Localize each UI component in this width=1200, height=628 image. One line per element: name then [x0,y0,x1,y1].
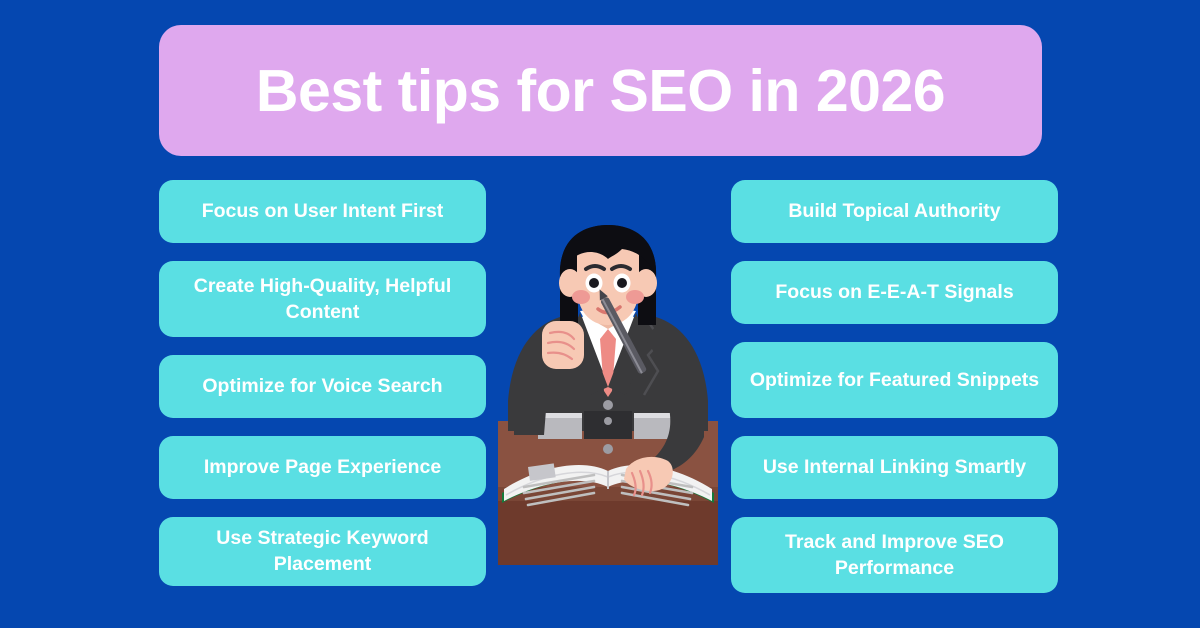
cheek-right-graphic [626,290,644,304]
tip-label: Use Internal Linking Smartly [763,454,1026,480]
tip-pill-focus-eeat-signals[interactable]: Focus on E-E-A-T Signals [731,261,1058,324]
tip-label: Optimize for Featured Snippets [750,367,1039,393]
seo-tips-infographic: Best tips for SEO in 2026 Focus on User … [0,0,1200,628]
tip-pill-focus-user-intent[interactable]: Focus on User Intent First [159,180,486,243]
tip-label: Optimize for Voice Search [202,373,442,399]
left-tips-column: Focus on User Intent First Create High-Q… [159,180,486,586]
tip-pill-build-topical-authority[interactable]: Build Topical Authority [731,180,1058,243]
tip-label: Improve Page Experience [204,454,441,480]
title-banner: Best tips for SEO in 2026 [159,25,1042,156]
tip-label: Track and Improve SEO Performance [745,529,1044,582]
tip-pill-internal-linking[interactable]: Use Internal Linking Smartly [731,436,1058,499]
tip-label: Focus on E-E-A-T Signals [775,279,1013,305]
tip-label: Create High-Quality, Helpful Content [173,273,472,326]
tip-label: Focus on User Intent First [202,198,444,224]
tip-label: Use Strategic Keyword Placement [173,525,472,578]
cheek-left-graphic [572,290,590,304]
tip-pill-strategic-keyword-placement[interactable]: Use Strategic Keyword Placement [159,517,486,586]
tip-pill-improve-page-experience[interactable]: Improve Page Experience [159,436,486,499]
tip-pill-optimize-voice-search[interactable]: Optimize for Voice Search [159,355,486,418]
page-title: Best tips for SEO in 2026 [256,57,945,125]
tip-label: Build Topical Authority [788,198,1000,224]
tip-pill-track-improve-seo-performance[interactable]: Track and Improve SEO Performance [731,517,1058,593]
tip-pill-create-high-quality-content[interactable]: Create High-Quality, Helpful Content [159,261,486,337]
desk-papers-graphic [538,411,678,439]
tip-pill-optimize-featured-snippets[interactable]: Optimize for Featured Snippets [731,342,1058,418]
right-tips-column: Build Topical Authority Focus on E-E-A-T… [731,180,1058,593]
businesswoman-illustration [498,225,718,565]
